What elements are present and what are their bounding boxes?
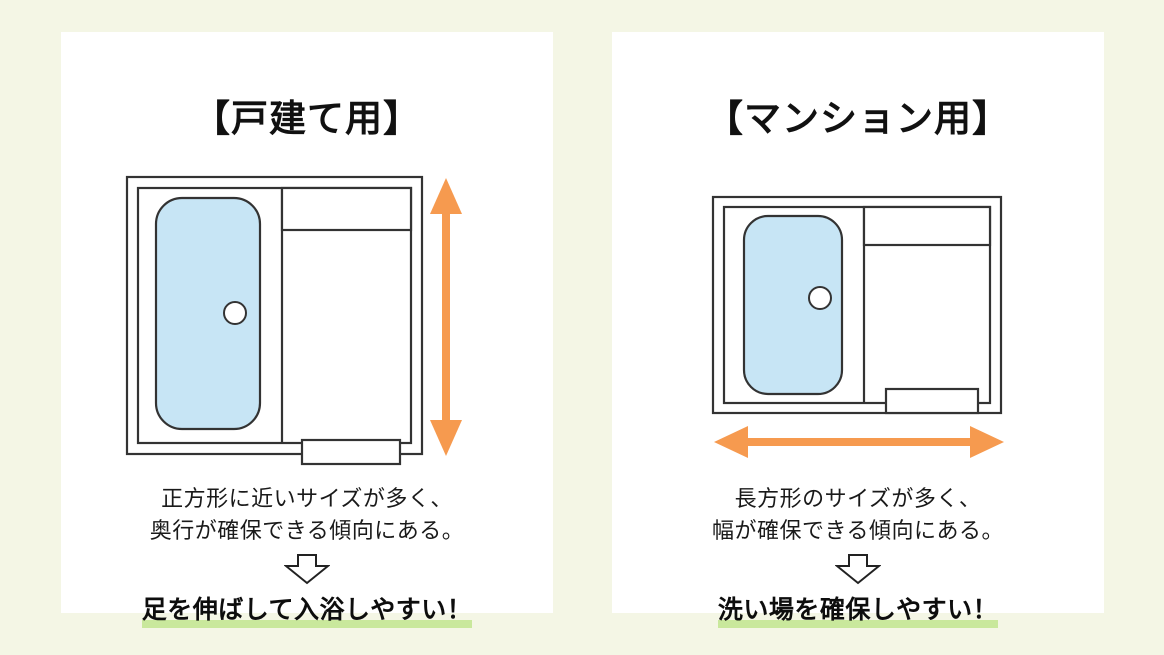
infographic-root: 【戸建て用】 <box>0 0 1164 655</box>
floor-plan-condominium <box>612 192 1104 462</box>
punchline-condominium: 洗い場を確保しやすい！ <box>718 590 998 628</box>
panel-title-condominium: 【マンション用】 <box>612 88 1104 142</box>
punchline-text: 足を伸ばして入浴しやすい！ <box>142 595 473 624</box>
down-arrow-outline-icon <box>835 553 881 585</box>
down-arrow-outline-icon <box>284 553 330 585</box>
caption-line: 正方形に近いサイズが多く、 <box>61 484 553 516</box>
door <box>886 389 978 413</box>
panel-condominium: 【マンション用】 <box>612 32 1104 613</box>
floor-plan-svg-detached <box>122 172 492 472</box>
depth-arrow <box>430 178 462 456</box>
panel-detached-house: 【戸建て用】 <box>61 32 553 613</box>
door <box>302 440 400 464</box>
floor-plan-svg-condominium <box>708 192 1008 462</box>
floor-plan-detached-house <box>61 172 553 472</box>
panel-title-detached-house: 【戸建て用】 <box>61 88 553 142</box>
down-arrow-row <box>61 552 553 586</box>
drain-icon <box>224 302 246 324</box>
width-arrow <box>714 426 1004 458</box>
punchline-text: 洗い場を確保しやすい！ <box>718 595 998 624</box>
punchline-detached-house: 足を伸ばして入浴しやすい！ <box>142 590 473 628</box>
caption-detached-house: 正方形に近いサイズが多く、 奥行が確保できる傾向にある。 足を伸ばして入浴しやす… <box>61 484 553 628</box>
down-arrow-row <box>612 552 1104 586</box>
drain-icon <box>809 287 831 309</box>
caption-condominium: 長方形のサイズが多く、 幅が確保できる傾向にある。 洗い場を確保しやすい！ <box>612 484 1104 628</box>
caption-line: 奥行が確保できる傾向にある。 <box>61 516 553 548</box>
caption-line: 幅が確保できる傾向にある。 <box>612 516 1104 548</box>
caption-line: 長方形のサイズが多く、 <box>612 484 1104 516</box>
counter-shelf <box>864 207 990 245</box>
counter-shelf <box>282 188 411 230</box>
